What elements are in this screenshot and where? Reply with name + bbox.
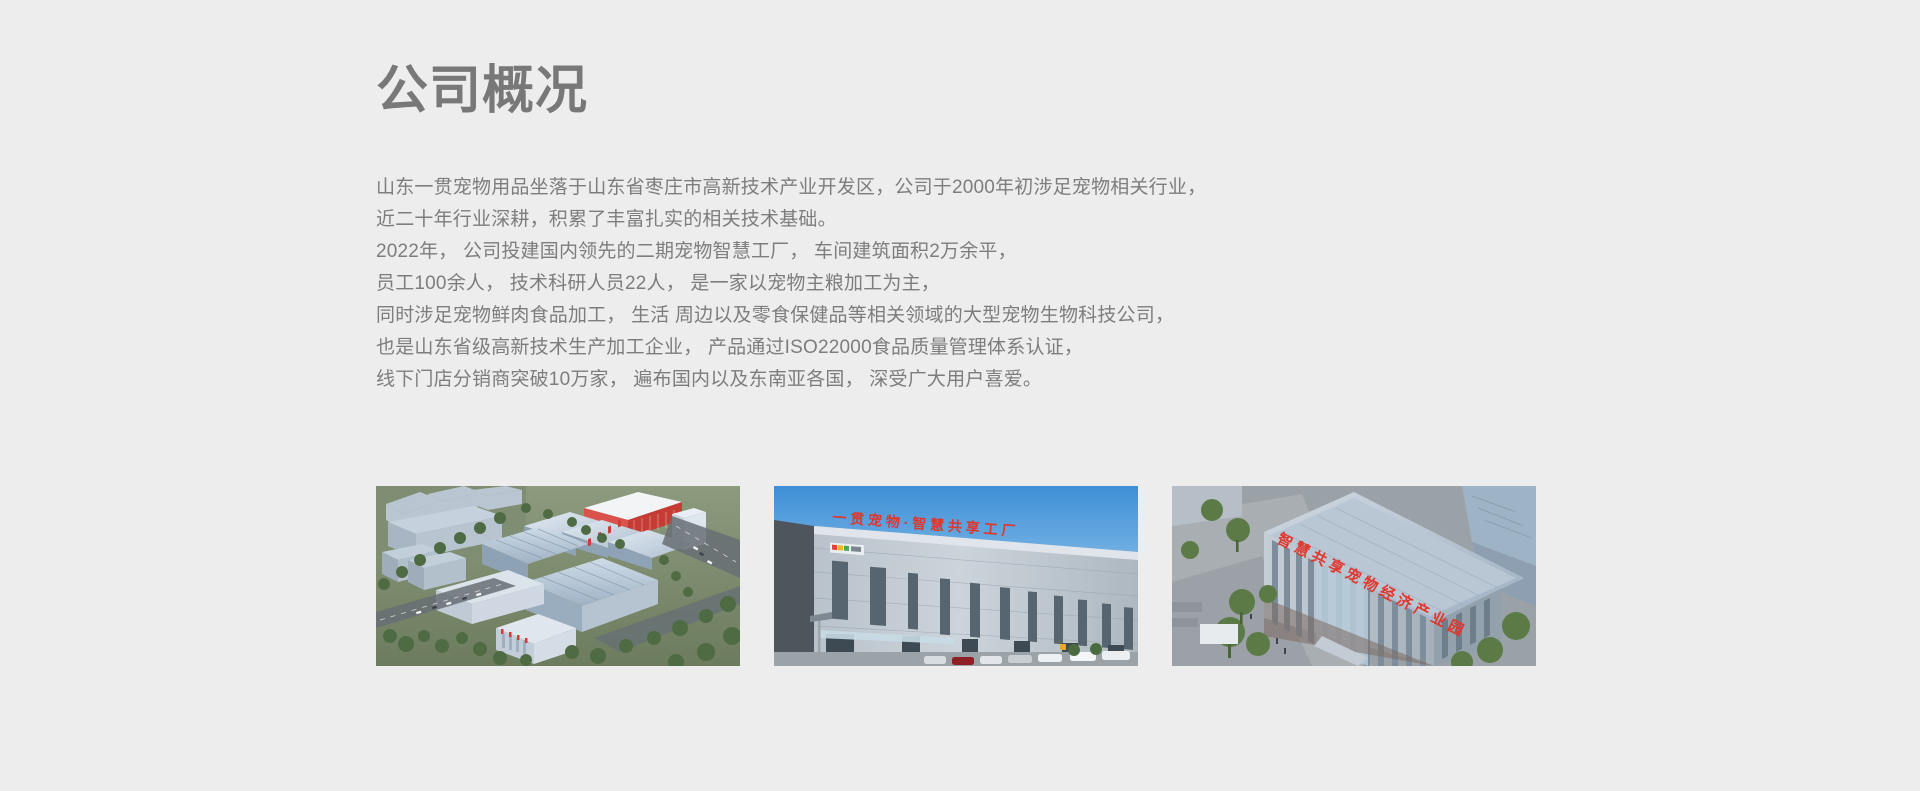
smart-shared-factory-photo: 一 贯 宠 物 · 智 慧 共 享 工 厂 — [774, 486, 1138, 666]
about-line: 也是山东省级高新技术生产加工企业， 产品通过ISO22000食品质量管理体系认证… — [376, 332, 1536, 364]
about-paragraph: 山东一贯宠物用品坐落于山东省枣庄市高新技术产业开发区，公司于2000年初涉足宠物… — [376, 172, 1536, 396]
pet-economy-park-photo: 智 慧 共 享 宠 物 经 济 产 业 园 — [1172, 486, 1536, 666]
aerial-industrial-park-photo: 一贯宠物产业园鸟瞰效果图 — [376, 486, 740, 666]
about-line: 山东一贯宠物用品坐落于山东省枣庄市高新技术产业开发区，公司于2000年初涉足宠物… — [376, 172, 1536, 204]
about-line: 2022年， 公司投建国内领先的二期宠物智慧工厂， 车间建筑面积2万余平， — [376, 236, 1536, 268]
about-line: 线下门店分销商突破10万家， 遍布国内以及东南亚各国， 深受广大用户喜爱。 — [376, 364, 1536, 396]
about-line: 近二十年行业深耕，积累了丰富扎实的相关技术基础。 — [376, 204, 1536, 236]
facility-photo-gallery: 一贯宠物产业园鸟瞰效果图 — [376, 486, 1536, 666]
about-line: 员工100余人， 技术科研人员22人， 是一家以宠物主粮加工为主， — [376, 268, 1536, 300]
about-line: 同时涉足宠物鲜肉食品加工， 生活 周边以及零食保健品等相关领域的大型宠物生物科技… — [376, 300, 1536, 332]
company-profile-page: 公司概况 山东一贯宠物用品坐落于山东省枣庄市高新技术产业开发区，公司于2000年… — [0, 0, 1920, 791]
page-title: 公司概况 — [376, 60, 588, 122]
